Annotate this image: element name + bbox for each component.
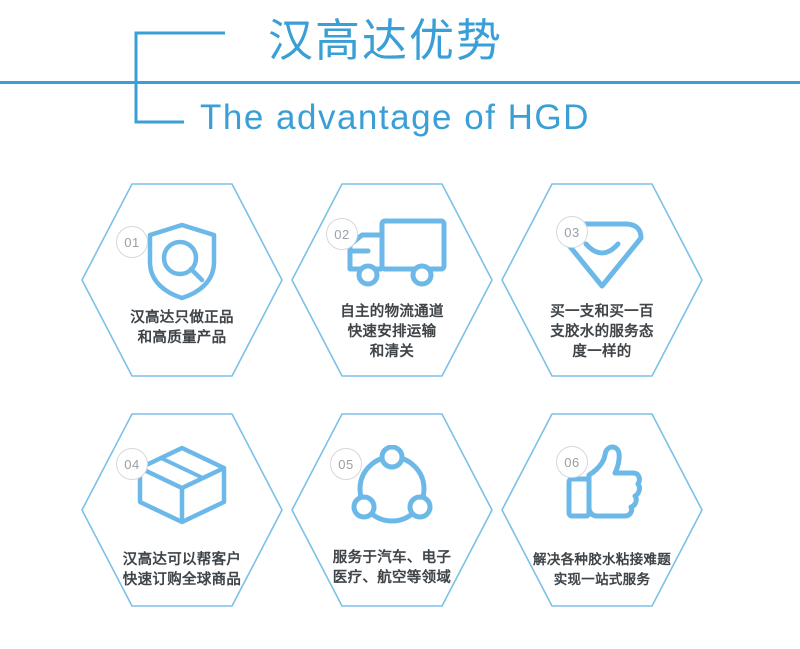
advantage-card-05[interactable]: 05 服务于汽车、电子 医疗、航空等领域 (288, 410, 496, 610)
header-divider-line (0, 81, 800, 84)
caption-line: 医疗、航空等领域 (296, 568, 488, 588)
caption-line: 解决各种胶水粘接难题 (506, 550, 698, 570)
card-number-badge: 02 (326, 218, 358, 250)
card-caption: 汉高达只做正品 和高质量产品 (86, 308, 278, 348)
advantage-card-04[interactable]: 04 汉高达可以帮客户 快速订购全球商品 (78, 410, 286, 610)
caption-line: 服务于汽车、电子 (296, 548, 488, 568)
card-number-badge: 04 (116, 448, 148, 480)
caption-line: 自主的物流通道 (296, 302, 488, 322)
advantage-card-grid: 01 汉高达只做正品 和高质量产品 02 (0, 168, 800, 613)
advantage-page: 汉高达优势 The advantage of HGD 01 汉高达只做正品 和高… (0, 0, 800, 649)
delivery-truck-icon (288, 208, 496, 298)
page-header: 汉高达优势 The advantage of HGD (0, 0, 800, 165)
card-caption: 自主的物流通道 快速安排运输 和清关 (296, 302, 488, 362)
advantage-card-01[interactable]: 01 汉高达只做正品 和高质量产品 (78, 180, 286, 380)
page-subtitle: The advantage of HGD (200, 96, 590, 140)
card-caption: 解决各种胶水粘接难题 实现一站式服务 (506, 550, 698, 590)
caption-line: 快速订购全球商品 (86, 570, 278, 590)
card-caption: 买一支和买一百 支胶水的服务态 度一样的 (506, 302, 698, 362)
caption-line: 支胶水的服务态 (506, 322, 698, 342)
card-number-badge: 05 (330, 448, 362, 480)
advantage-card-06[interactable]: 06 解决各种胶水粘接难题 实现一站式服务 (498, 410, 706, 610)
caption-line: 和高质量产品 (86, 328, 278, 348)
card-caption: 汉高达可以帮客户 快速订购全球商品 (86, 550, 278, 590)
shield-q-icon (78, 216, 286, 306)
caption-line: 汉高达只做正品 (86, 308, 278, 328)
caption-line: 买一支和买一百 (506, 302, 698, 322)
card-number-badge: 06 (556, 446, 588, 478)
package-box-icon (78, 440, 286, 530)
page-title: 汉高达优势 (268, 12, 503, 70)
thumbs-up-icon (498, 438, 706, 528)
network-nodes-icon (288, 442, 496, 532)
caption-line: 实现一站式服务 (506, 570, 698, 590)
card-caption: 服务于汽车、电子 医疗、航空等领域 (296, 548, 488, 588)
advantage-card-02[interactable]: 02 自主的物流通道 快速安排运输 和清关 (288, 180, 496, 380)
caption-line: 快速安排运输 (296, 322, 488, 342)
diamond-smile-icon (498, 210, 706, 300)
caption-line: 和清关 (296, 342, 488, 362)
advantage-card-03[interactable]: 03 买一支和买一百 支胶水的服务态 度一样的 (498, 180, 706, 380)
card-number-badge: 01 (116, 226, 148, 258)
caption-line: 度一样的 (506, 342, 698, 362)
card-number-badge: 03 (556, 216, 588, 248)
caption-line: 汉高达可以帮客户 (86, 550, 278, 570)
